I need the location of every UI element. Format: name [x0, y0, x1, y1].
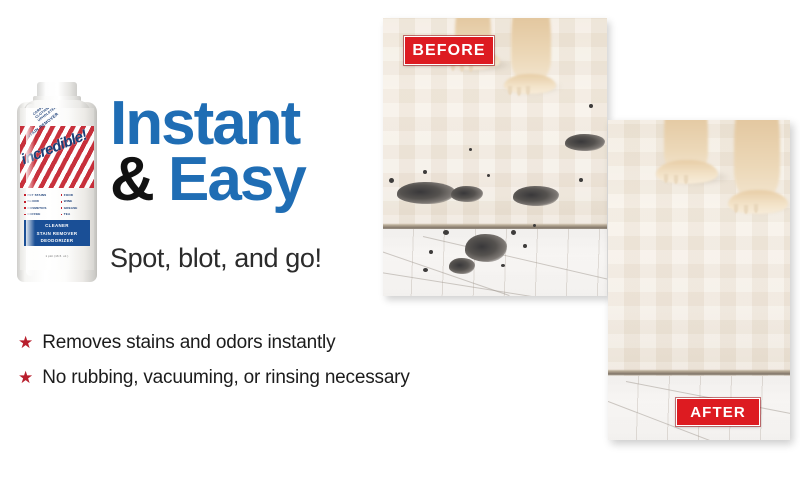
mud-fleck — [423, 170, 427, 174]
headline-subtitle: Spot, blot, and go! — [110, 243, 322, 274]
mud-fleck — [469, 148, 472, 151]
list-item: TEA — [61, 211, 93, 217]
headline-line-easy: & Easy — [110, 152, 390, 208]
mud-stain — [397, 182, 455, 204]
mud-fleck — [523, 244, 527, 248]
bullet-dot-icon — [61, 194, 63, 196]
feature-text: No rubbing, vacuuming, or rinsing necess… — [42, 367, 409, 389]
after-badge: AFTER — [676, 398, 760, 426]
dog-claw — [517, 87, 521, 96]
feature-list: ★ Removes stains and odors instantly ★ N… — [18, 332, 478, 402]
mud-fleck — [487, 174, 490, 177]
mud-stain — [513, 186, 559, 206]
label-uses-list: PET STAINS BLOOD COSMETICS COFFEE — [24, 192, 92, 218]
advertisement-canvas: CARPET CLOTHING UPHOLSTERY STAIN REMOVER… — [0, 0, 800, 494]
dog-claw — [744, 205, 748, 214]
bullet-dot-icon — [61, 214, 63, 216]
list-item: COFFEE — [24, 211, 56, 217]
bullet-dot-icon — [61, 201, 63, 203]
mud-stain — [565, 134, 605, 151]
after-scene — [608, 120, 790, 440]
net-weight-text: 1 pint (16 fl. oz.) — [20, 254, 94, 258]
mud-splatter — [465, 234, 507, 262]
bullet-dot-icon — [24, 194, 26, 196]
label-uses-column-right: FOOD WINE GREASE TEA — [61, 192, 93, 218]
after-photo — [608, 120, 790, 440]
dog-claw — [684, 175, 688, 184]
label-blue-band: CLEANER STAIN REMOVER DEODORIZER — [24, 220, 90, 246]
feature-text: Removes stains and odors instantly — [42, 332, 335, 354]
dog-claw — [526, 86, 530, 95]
mud-fleck — [589, 104, 593, 108]
dog-claw — [508, 86, 512, 95]
bullet-dot-icon — [24, 207, 26, 209]
headline-line-instant: Instant — [110, 96, 390, 152]
page-title: Instant & Easy — [110, 96, 390, 208]
headline-easy-word: Easy — [168, 145, 305, 214]
label-uses-column-left: PET STAINS BLOOD COSMETICS COFFEE — [24, 192, 56, 218]
product-bottle: CARPET CLOTHING UPHOLSTERY STAIN REMOVER… — [14, 82, 100, 282]
star-icon: ★ — [18, 368, 33, 388]
mud-stain — [451, 186, 483, 202]
headline-ampersand: & — [110, 145, 153, 214]
bottle-label: CARPET CLOTHING UPHOLSTERY STAIN REMOVER… — [20, 108, 94, 270]
dog-claw — [664, 174, 668, 183]
before-badge: BEFORE — [404, 36, 494, 65]
dog-claw — [754, 204, 758, 213]
mud-fleck — [389, 178, 394, 183]
bullet-dot-icon — [61, 207, 63, 209]
band-cleaner: CLEANER — [45, 222, 69, 229]
dog-claw — [734, 204, 738, 213]
star-icon: ★ — [18, 333, 33, 353]
mud-fleck — [429, 250, 433, 254]
mud-fleck — [533, 224, 536, 227]
mud-splatter — [449, 258, 475, 274]
carpet-edge — [608, 370, 790, 375]
dog-front-leg-right — [511, 18, 551, 80]
band-deodorizer: DEODORIZER — [41, 237, 74, 244]
mud-fleck — [579, 178, 583, 182]
bullet-dot-icon — [24, 201, 26, 203]
list-item: ★ No rubbing, vacuuming, or rinsing nece… — [18, 367, 478, 389]
mud-fleck — [443, 230, 449, 235]
carpet-edge — [383, 224, 607, 229]
before-badge-label: BEFORE — [412, 42, 485, 60]
mud-fleck — [501, 264, 505, 267]
after-badge-label: AFTER — [690, 404, 746, 421]
bullet-dot-icon — [24, 214, 26, 216]
use-label: COFFEE — [27, 211, 40, 217]
band-stain-remover: STAIN REMOVER — [37, 230, 78, 237]
list-item: ★ Removes stains and odors instantly — [18, 332, 478, 354]
dog-claw — [674, 175, 678, 184]
mud-fleck — [511, 230, 516, 235]
use-label: TEA — [64, 211, 71, 217]
mud-fleck — [423, 268, 428, 272]
dog-front-leg-right — [734, 120, 780, 198]
